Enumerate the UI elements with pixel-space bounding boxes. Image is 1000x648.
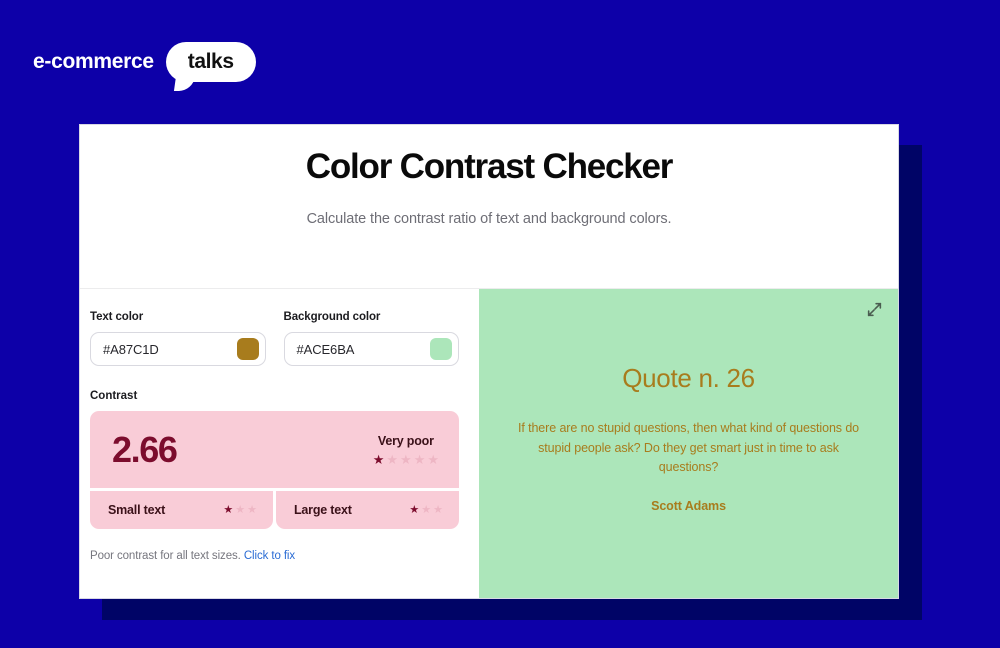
- background-color-input[interactable]: #ACE6BA: [284, 332, 460, 366]
- background-color-field: Background color #ACE6BA: [284, 311, 460, 366]
- text-color-label: Text color: [90, 311, 266, 323]
- background-color-swatch[interactable]: [430, 338, 452, 360]
- preview-panel: Quote n. 26 If there are no stupid quest…: [479, 289, 898, 598]
- background-color-label: Background color: [284, 311, 460, 323]
- star-empty-icon: ★: [247, 505, 257, 516]
- star-empty-icon: ★: [400, 453, 412, 466]
- brand-word: e-commerce: [33, 50, 154, 74]
- page-subtitle: Calculate the contrast ratio of text and…: [100, 211, 878, 227]
- text-color-input[interactable]: #A87C1D: [90, 332, 266, 366]
- large-text-result: Large text ★★★: [276, 491, 459, 529]
- click-to-fix-link[interactable]: Click to fix: [244, 550, 295, 562]
- text-color-value: #A87C1D: [103, 342, 159, 357]
- background-color-value: #ACE6BA: [297, 342, 355, 357]
- brand-speech-bubble: talks: [166, 42, 256, 82]
- small-text-result: Small text ★★★: [90, 491, 273, 529]
- star-empty-icon: ★: [421, 505, 431, 516]
- star-empty-icon: ★: [427, 453, 439, 466]
- text-size-results: Small text ★★★ Large text ★★★: [90, 491, 459, 529]
- contrast-star-rating: ★★★★★: [373, 453, 439, 466]
- brand-logo: e-commerce talks: [33, 38, 256, 86]
- star-empty-icon: ★: [433, 505, 443, 516]
- star-filled-icon: ★: [409, 505, 419, 516]
- text-color-field: Text color #A87C1D: [90, 311, 266, 366]
- color-fields-row: Text color #A87C1D Background color #ACE…: [90, 311, 459, 366]
- contrast-label: Contrast: [90, 390, 459, 402]
- contrast-rating: Very poor ★★★★★: [373, 434, 439, 466]
- star-empty-icon: ★: [235, 505, 245, 516]
- contrast-note-text: Poor contrast for all text sizes.: [90, 550, 241, 562]
- preview-body-text: If there are no stupid questions, then w…: [514, 419, 864, 477]
- contrast-note: Poor contrast for all text sizes. Click …: [90, 550, 459, 562]
- star-empty-icon: ★: [386, 453, 398, 466]
- small-text-star-rating: ★★★: [223, 505, 257, 516]
- brand-bubble-label: talks: [188, 51, 234, 72]
- contrast-rating-label: Very poor: [373, 434, 439, 448]
- small-text-label: Small text: [108, 503, 165, 517]
- page-title: Color Contrast Checker: [100, 147, 878, 186]
- contrast-score-value: 2.66: [112, 432, 176, 468]
- expand-arrows-icon[interactable]: [866, 301, 883, 318]
- preview-author: Scott Adams: [513, 499, 864, 513]
- star-empty-icon: ★: [414, 453, 426, 466]
- contrast-score-card: 2.66 Very poor ★★★★★: [90, 411, 459, 488]
- large-text-star-rating: ★★★: [409, 505, 443, 516]
- app-body: Text color #A87C1D Background color #ACE…: [80, 288, 898, 598]
- app-window: Color Contrast Checker Calculate the con…: [79, 124, 899, 599]
- form-panel: Text color #A87C1D Background color #ACE…: [80, 289, 479, 598]
- app-header: Color Contrast Checker Calculate the con…: [80, 125, 898, 227]
- preview-heading: Quote n. 26: [513, 363, 864, 394]
- large-text-label: Large text: [294, 503, 352, 517]
- text-color-swatch[interactable]: [237, 338, 259, 360]
- star-filled-icon: ★: [223, 505, 233, 516]
- star-filled-icon: ★: [373, 453, 385, 466]
